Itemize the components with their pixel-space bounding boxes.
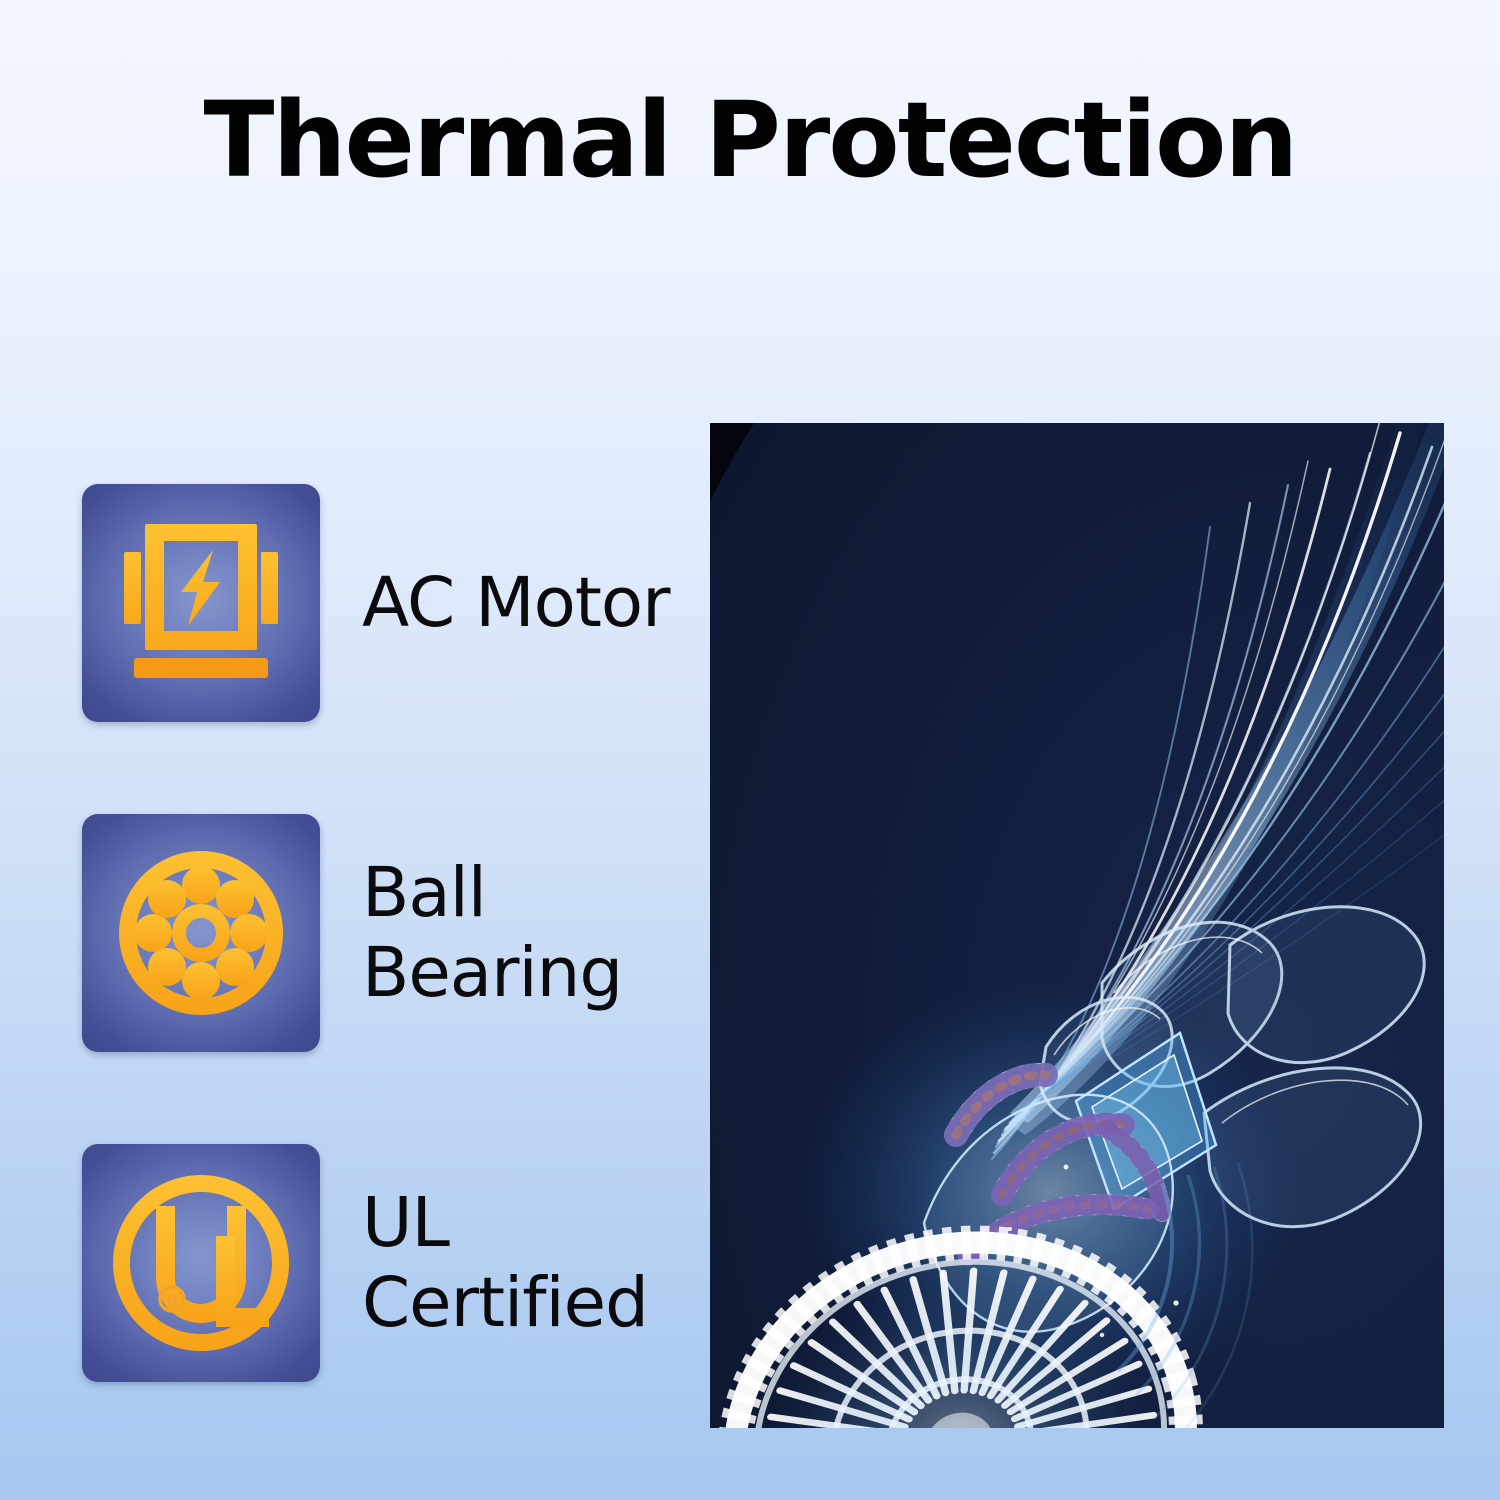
feature-label-ac-motor: AC Motor <box>362 563 670 643</box>
feature-item-ul-certified: R UL Certified <box>82 1144 682 1382</box>
product-feature-page: Thermal Protection <box>0 0 1500 1500</box>
product-image-panel <box>710 423 1444 1428</box>
ul-certified-icon: R <box>82 1144 320 1382</box>
fan-motor-airflow-visualization <box>710 423 1444 1428</box>
ac-motor-icon <box>82 484 320 722</box>
feature-label-ul-certified: UL Certified <box>362 1183 648 1343</box>
feature-list: AC Motor <box>82 484 682 1382</box>
svg-text:R: R <box>166 1291 179 1309</box>
feature-label-ball-bearing: Ball Bearing <box>362 853 622 1013</box>
feature-item-ball-bearing: Ball Bearing <box>82 814 682 1052</box>
feature-item-ac-motor: AC Motor <box>82 484 682 722</box>
ball-bearing-icon <box>82 814 320 1052</box>
page-title: Thermal Protection <box>0 86 1500 195</box>
